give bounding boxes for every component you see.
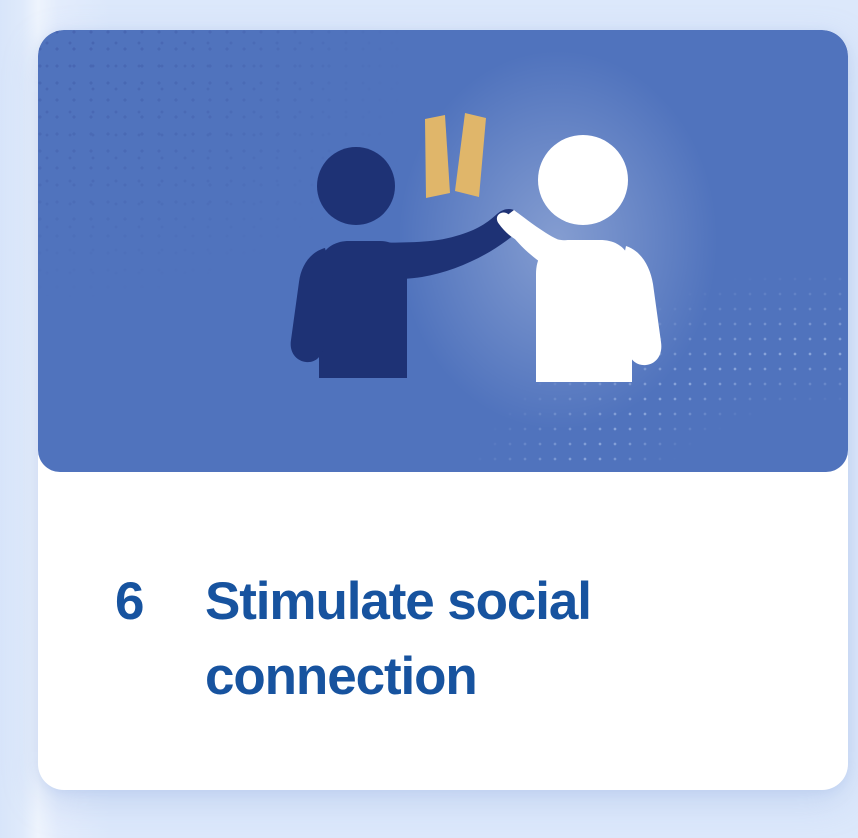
card-number: 6 xyxy=(115,564,205,639)
card-title-row: 6 Stimulate social connection xyxy=(115,564,808,714)
card-hero-panel xyxy=(38,30,848,472)
page-canvas: 6 Stimulate social connection xyxy=(0,0,858,838)
person-right-head xyxy=(538,135,628,225)
card-title: Stimulate social connection xyxy=(205,564,675,714)
person-left-head xyxy=(317,147,395,225)
tip-card[interactable]: 6 Stimulate social connection xyxy=(38,30,848,790)
two-people-high-five-illustration xyxy=(38,30,848,472)
card-body: 6 Stimulate social connection xyxy=(38,472,848,790)
